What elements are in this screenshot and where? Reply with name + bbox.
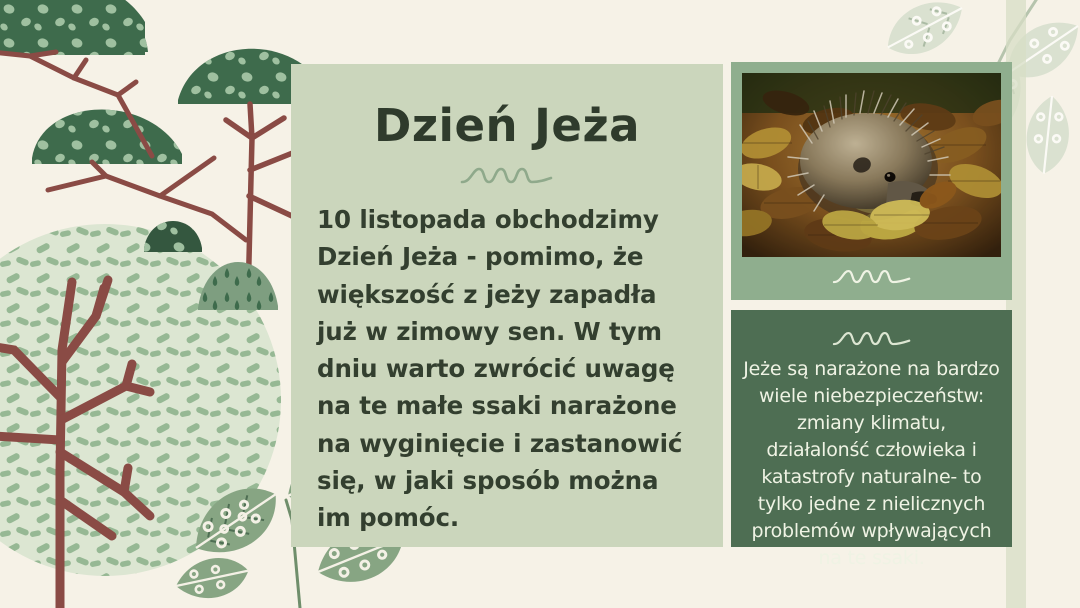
- page-title: Dzień Jeża: [374, 102, 640, 149]
- hedgehog-photo: [742, 73, 1001, 257]
- squiggle-divider-quote: [829, 328, 915, 350]
- squiggle-divider-photo: [731, 266, 1012, 288]
- card-body-text: 10 listopada obchodzimy Dzień Jeża - pom…: [317, 201, 697, 536]
- tree-canopy-mid-left: [32, 109, 182, 164]
- slide-canvas: Dzień Jeża 10 listopada obchodzimy Dzień…: [0, 0, 1080, 608]
- squiggle-divider-title: [459, 163, 555, 189]
- tree-canopy-upper-left: [0, 0, 145, 55]
- bush-dark-dotted: [144, 221, 202, 252]
- content-card: Dzień Jeża 10 listopada obchodzimy Dzień…: [291, 64, 723, 547]
- quote-box: Jeże są narażone na bardzo wiele niebezp…: [731, 310, 1012, 547]
- quote-body-text: Jeże są narażone na bardzo wiele niebezp…: [743, 356, 1000, 572]
- photo-frame: [731, 62, 1012, 300]
